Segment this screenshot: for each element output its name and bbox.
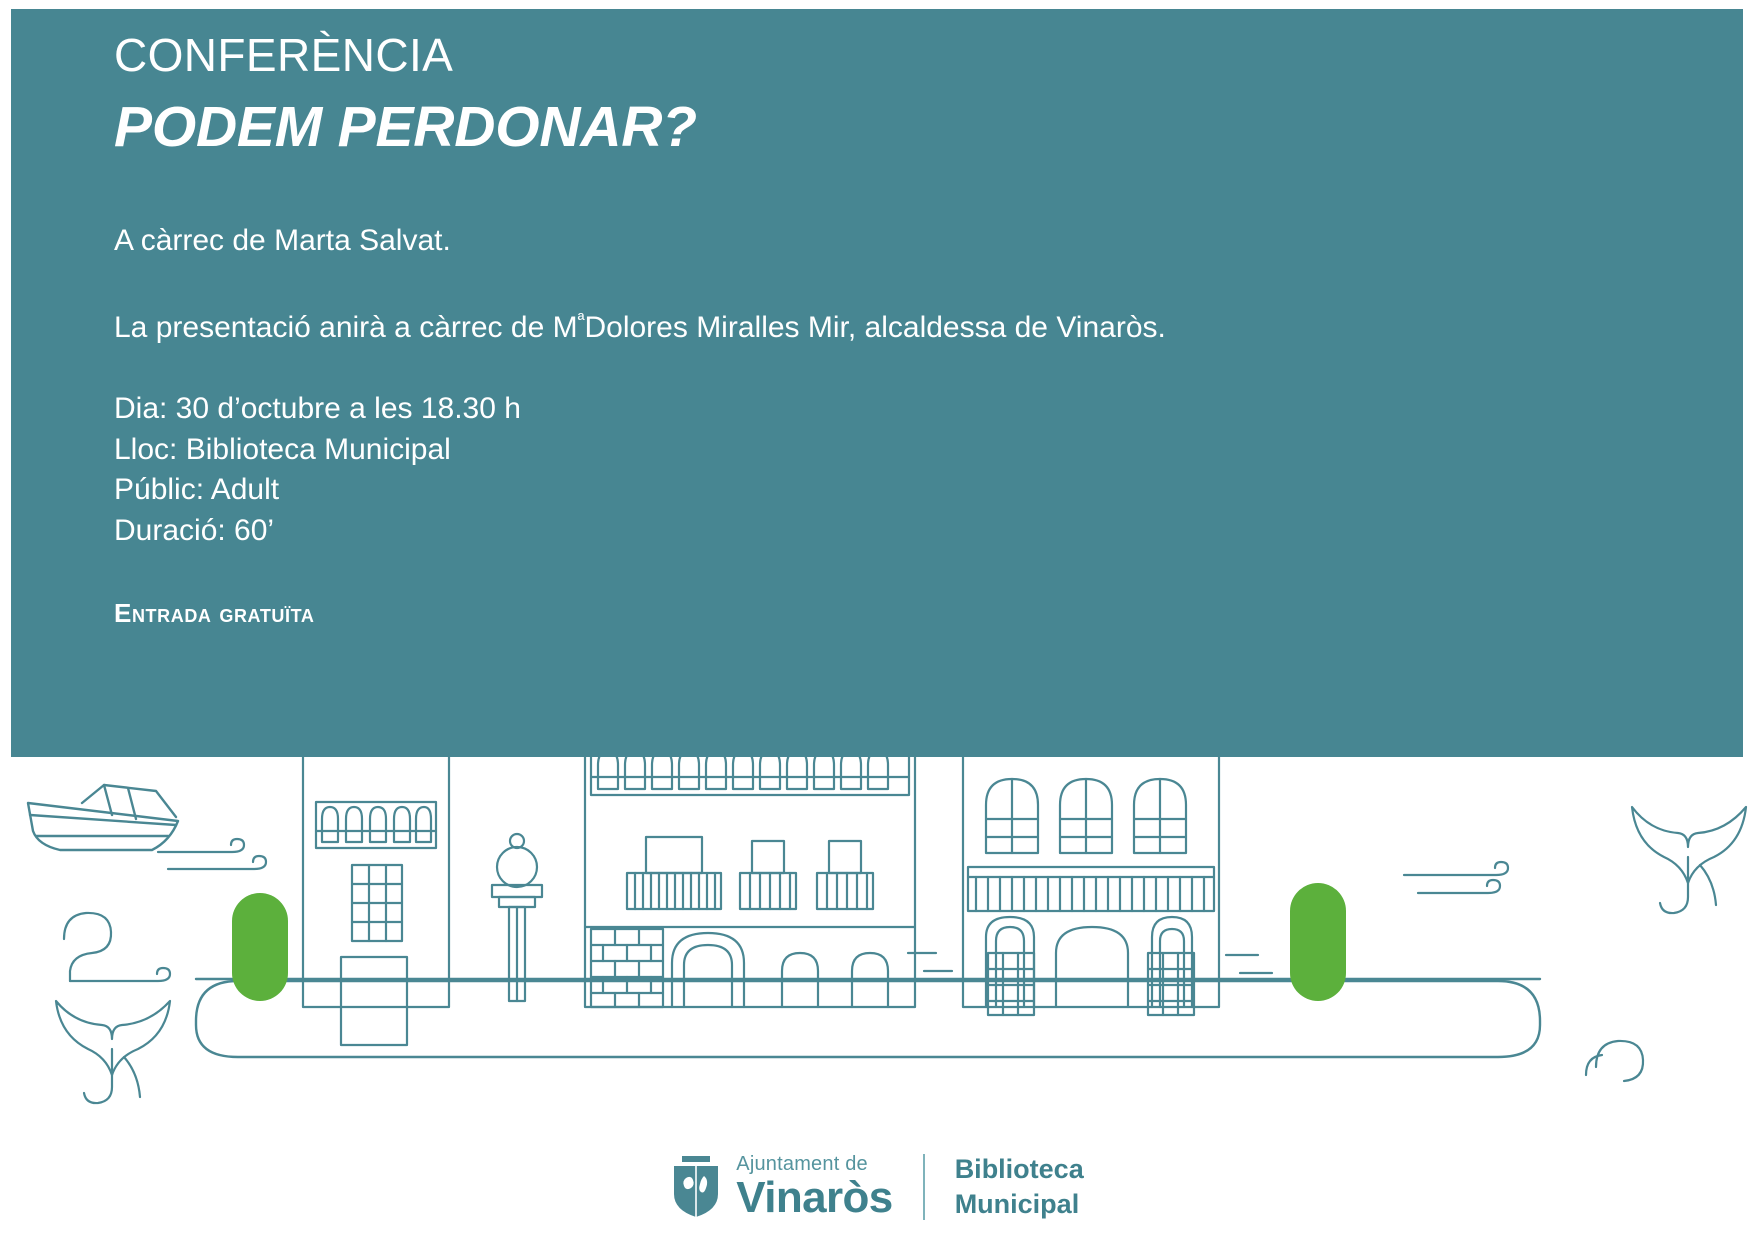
free-entry-badge: Entrada gratuïta: [114, 598, 1703, 629]
building-icon: [303, 757, 449, 1045]
detail-location: Lloc: Biblioteca Municipal: [114, 430, 1703, 471]
tree-icon: [1290, 883, 1346, 1001]
wave-icon: [1404, 862, 1508, 893]
poster-header-panel: CONFERÈNCIA PODEM PERDONAR? A càrrec de …: [11, 9, 1743, 757]
presenter-prefix: La presentació anirà a càrrec de M: [114, 311, 578, 344]
detail-date: Dia: 30 d’octubre a les 18.30 h: [114, 389, 1703, 430]
tree-icon: [232, 893, 288, 1001]
boat-icon: [28, 785, 178, 850]
page-title: PODEM PERDONAR?: [114, 97, 1703, 159]
biblioteca-municipal-logo: Biblioteca Municipal: [955, 1152, 1084, 1221]
logo-divider: [923, 1154, 925, 1220]
ajuntament-logo: Ajuntament de Vinaròs: [670, 1154, 892, 1220]
detail-duration: Duració: 60’: [114, 511, 1703, 552]
wave-icon: [1586, 1041, 1643, 1081]
presenter-suffix: Dolores Miralles Mir, alcaldessa de Vina…: [584, 311, 1165, 344]
wave-icon: [158, 839, 266, 869]
vinaros-crest-icon: [670, 1156, 722, 1218]
biblioteca-line-2: Municipal: [955, 1187, 1084, 1222]
skyline-illustration: [0, 757, 1754, 1137]
building-icon: [963, 757, 1219, 1015]
presenter-line: La presentació anirà a càrrec de MªDolor…: [114, 308, 1703, 347]
biblioteca-line-1: Biblioteca: [955, 1152, 1084, 1187]
event-details-list: Dia: 30 d’octubre a les 18.30 h Lloc: Bi…: [114, 389, 1703, 552]
whale-tail-icon: [1632, 807, 1746, 913]
whale-tail-icon: [56, 1001, 170, 1103]
ajuntament-small-label: Ajuntament de: [736, 1154, 892, 1174]
poster-text-block: CONFERÈNCIA PODEM PERDONAR? A càrrec de …: [114, 31, 1703, 629]
detail-audience: Públic: Adult: [114, 470, 1703, 511]
speaker-line: A càrrec de Marta Salvat.: [114, 221, 1703, 260]
building-icon: [585, 757, 915, 1007]
lamppost-icon: [492, 834, 542, 1001]
event-kicker: CONFERÈNCIA: [114, 31, 1703, 79]
footer-logos: Ajuntament de Vinaròs Biblioteca Municip…: [0, 1132, 1754, 1241]
wave-icon: [64, 913, 170, 981]
ajuntament-wordmark: Ajuntament de Vinaròs: [736, 1154, 892, 1220]
ajuntament-city-name: Vinaròs: [736, 1176, 892, 1220]
